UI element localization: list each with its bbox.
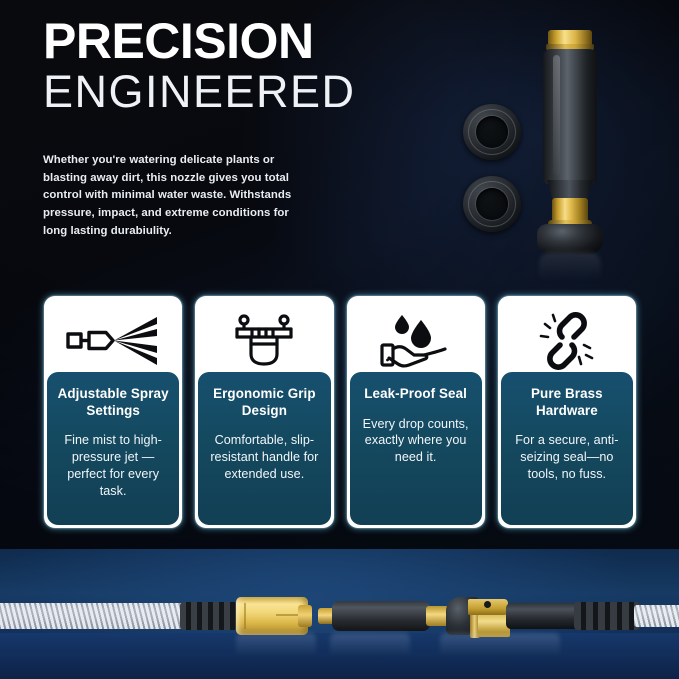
braided-hose	[0, 603, 186, 629]
headline-block: PRECISION ENGINEERED	[43, 17, 443, 117]
nozzle-valve-assembly-right	[318, 599, 679, 633]
feature-card[interactable]: Ergonomic Grip Design Comfortable, slip-…	[195, 296, 333, 528]
feature-card-description: Comfortable, slip-resistant handle for e…	[205, 432, 323, 483]
o-ring-washer-icon	[463, 176, 521, 232]
feature-card-panel: Adjustable Spray Settings Fine mist to h…	[47, 372, 179, 525]
reflection	[440, 633, 560, 659]
feature-card-panel: Ergonomic Grip Design Comfortable, slip-…	[198, 372, 330, 525]
product-image	[455, 18, 679, 268]
feature-card-description: Every drop counts, exactly where you nee…	[357, 416, 475, 467]
hose-connector-assembly-left	[0, 601, 294, 631]
product-infographic: PRECISION ENGINEERED Whether you're wate…	[0, 0, 679, 679]
feature-card-description: For a secure, anti-seizing seal—no tools…	[508, 432, 626, 483]
reflection	[236, 633, 316, 659]
feature-card-title: Pure Brass Hardware	[508, 386, 626, 419]
feature-card-list: Adjustable Spray Settings Fine mist to h…	[44, 296, 636, 528]
feature-card-panel: Pure Brass Hardware For a secure, anti-s…	[501, 372, 633, 525]
feature-card[interactable]: Adjustable Spray Settings Fine mist to h…	[44, 296, 182, 528]
hero-description: Whether you're watering delicate plants …	[43, 152, 311, 240]
feature-card[interactable]: Leak-Proof Seal Every drop counts, exact…	[347, 296, 485, 528]
feature-card-panel: Leak-Proof Seal Every drop counts, exact…	[350, 372, 482, 525]
brass-connector-tip	[298, 605, 312, 627]
strain-relief-sleeve	[574, 602, 640, 630]
feature-card[interactable]: Pure Brass Hardware For a secure, anti-s…	[498, 296, 636, 528]
feature-card-description: Fine mist to high-pressure jet — perfect…	[54, 432, 172, 500]
feature-card-title: Ergonomic Grip Design	[205, 386, 323, 419]
hose-barrel	[506, 603, 582, 629]
reflection	[330, 633, 410, 659]
strain-relief-sleeve	[180, 602, 242, 630]
braided-hose	[634, 605, 679, 627]
bottom-product-band	[0, 549, 679, 679]
valve-screw	[484, 601, 491, 608]
nozzle-base	[537, 224, 603, 254]
feature-card-title: Leak-Proof Seal	[357, 386, 475, 403]
o-ring-washer-icon	[463, 104, 521, 160]
nozzle-render	[535, 30, 605, 235]
nozzle-reflection	[539, 252, 601, 286]
rubber-handle	[332, 601, 430, 631]
headline-secondary: ENGINEERED	[43, 67, 443, 117]
headline-primary: PRECISION	[43, 17, 443, 65]
nozzle-barrel	[543, 49, 597, 184]
feature-card-title: Adjustable Spray Settings	[54, 386, 172, 419]
